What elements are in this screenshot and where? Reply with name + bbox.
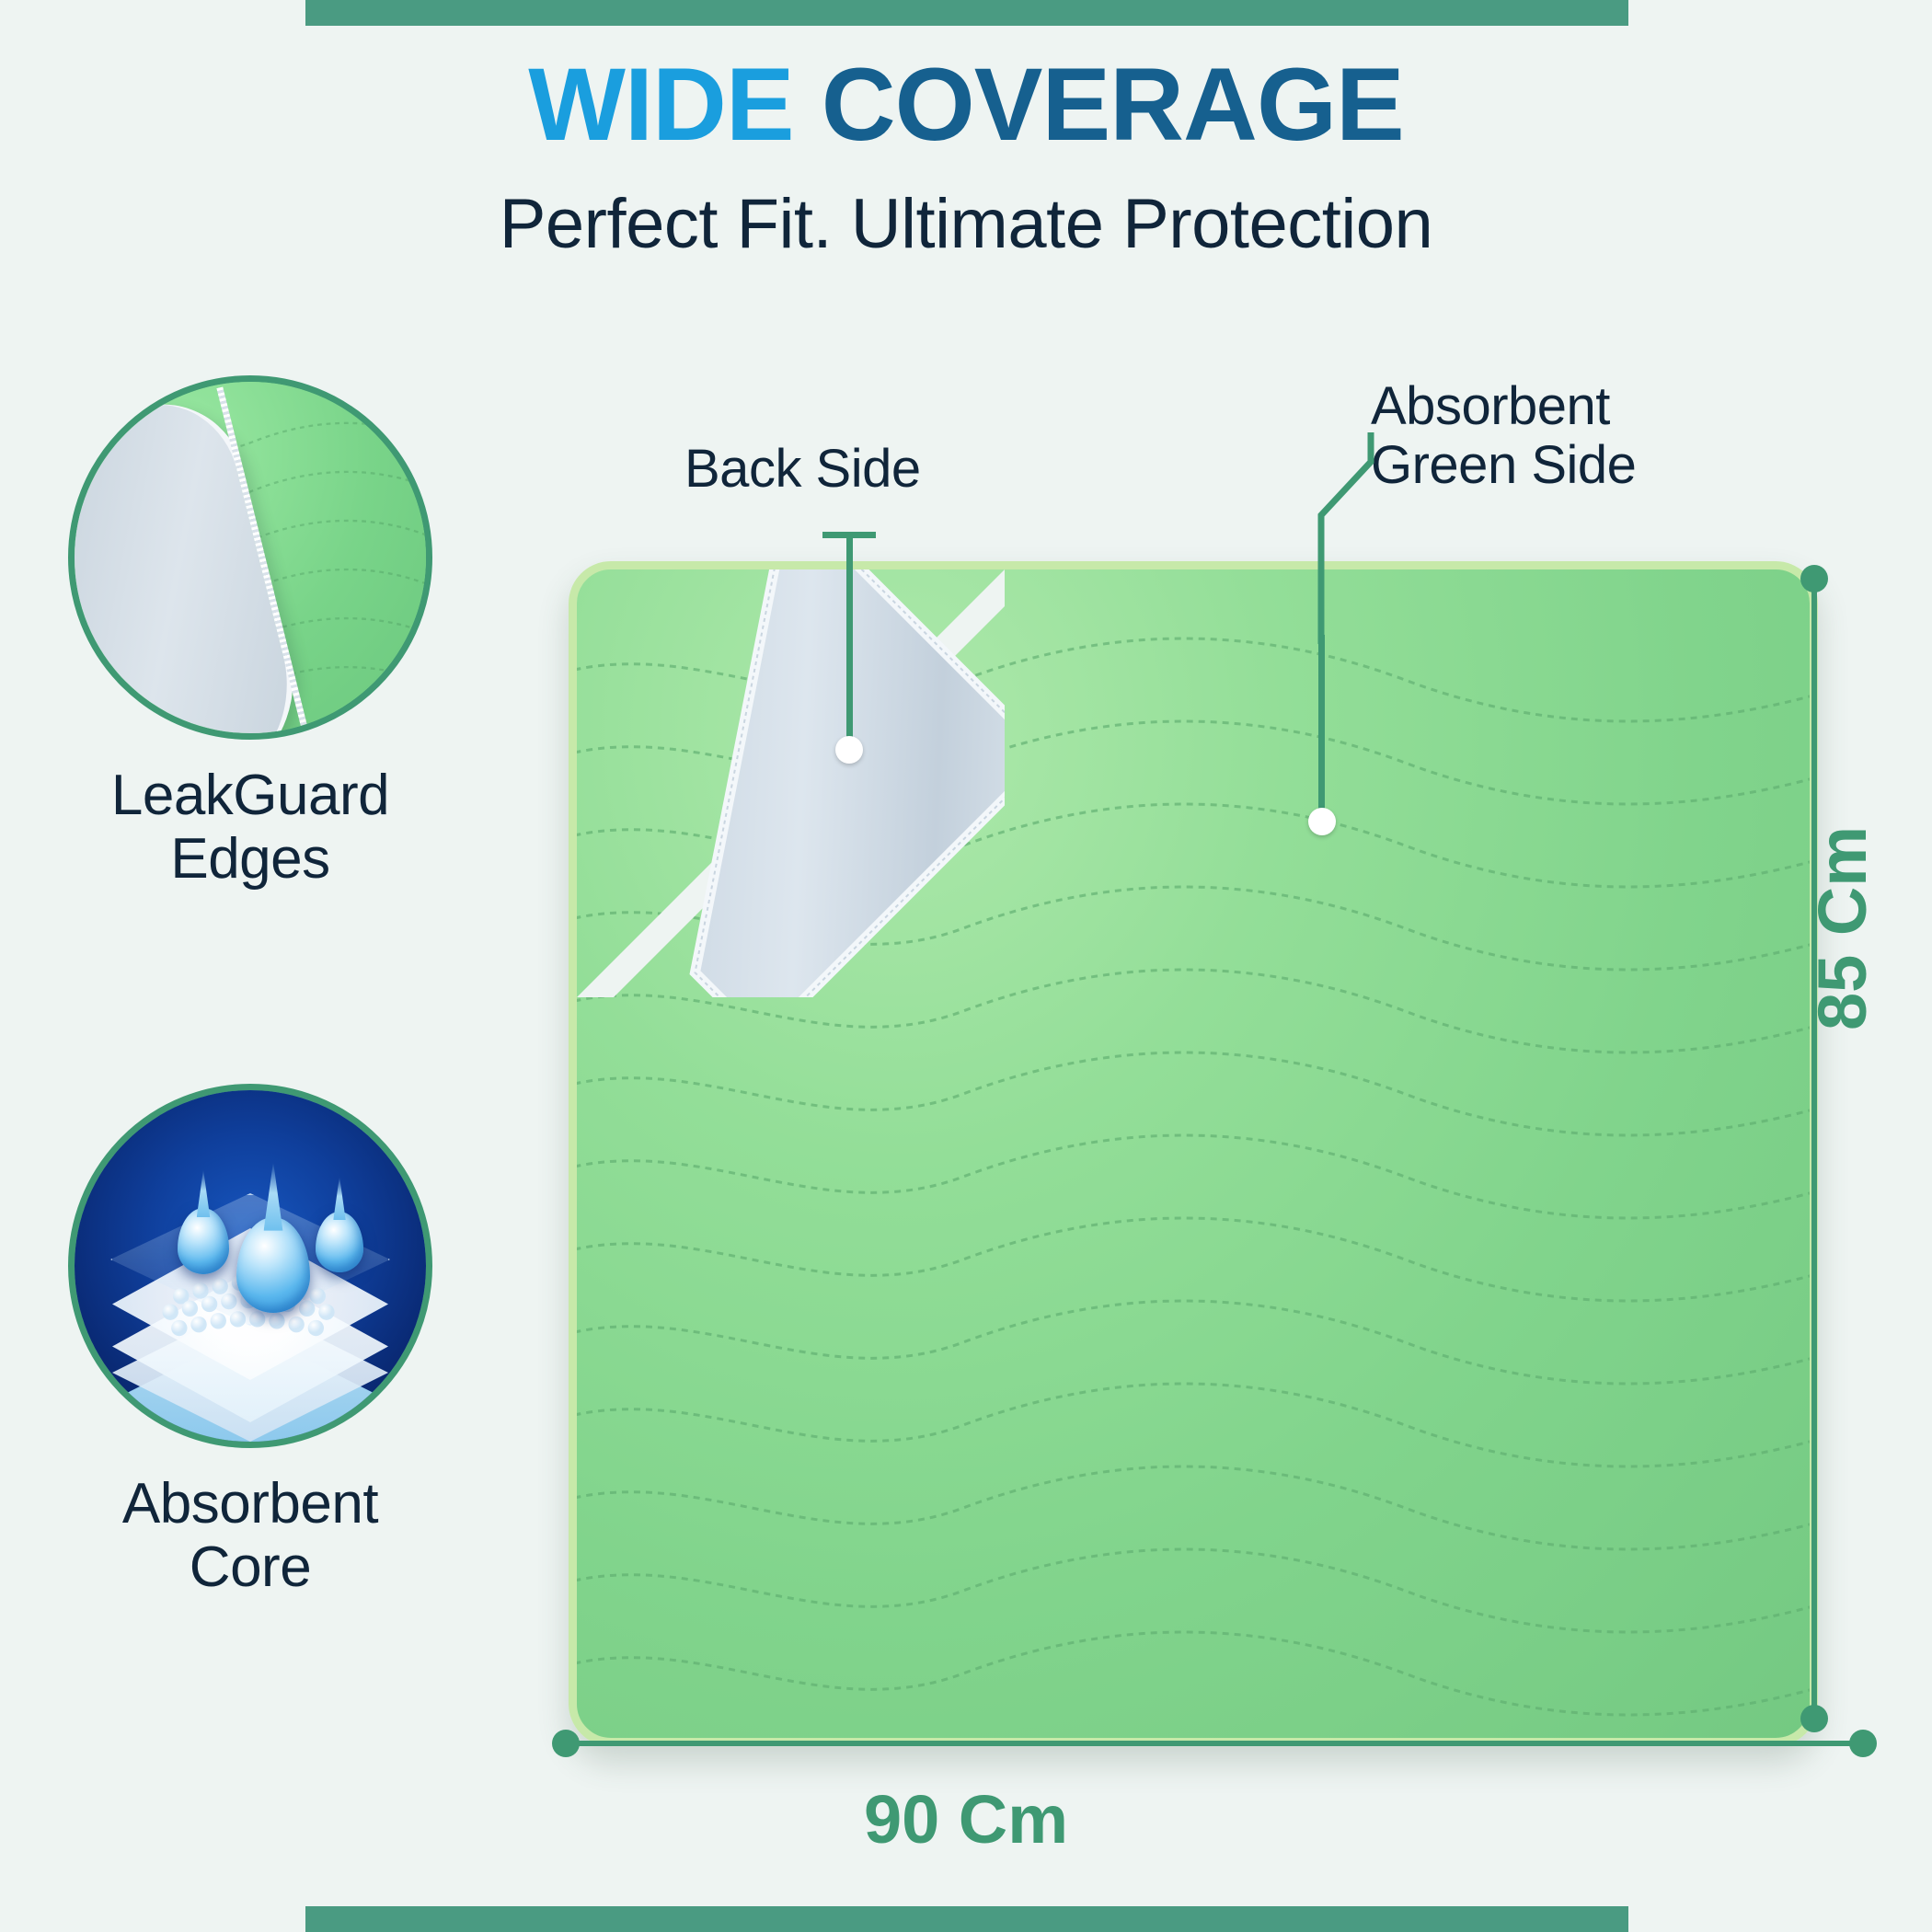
- page-subtitle: Perfect Fit. Ultimate Protection: [0, 184, 1932, 264]
- feature-absorbent-core-label-line1: Absorbent: [57, 1472, 443, 1535]
- feature-absorbent-core-label: Absorbent Core: [57, 1472, 443, 1600]
- dim-width-label: 90 Cm: [0, 1780, 1932, 1858]
- page-title: WIDE COVERAGE: [0, 53, 1932, 156]
- feature-leakguard-label-line2: Edges: [57, 827, 443, 891]
- infographic-page: WIDE COVERAGE Perfect Fit. Ultimate Prot…: [0, 0, 1932, 1932]
- feature-absorbent-core-label-line2: Core: [57, 1535, 443, 1599]
- bed-pad-green-side: [569, 561, 1818, 1746]
- callout-green-side-marker-dot: [1308, 808, 1336, 835]
- callout-back-side-label: Back Side: [684, 440, 921, 499]
- top-accent-bar: [305, 0, 1628, 26]
- feature-leakguard-edges: LeakGuard Edges: [57, 375, 443, 891]
- callout-back-side-marker-dot: [835, 736, 863, 764]
- feature-leakguard-label: LeakGuard Edges: [57, 764, 443, 891]
- dim-width-line: [566, 1741, 1863, 1746]
- bottom-accent-bar: [305, 1906, 1628, 1932]
- feature-leakguard-label-line1: LeakGuard: [57, 764, 443, 827]
- folded-back-side-corner: [577, 569, 1005, 997]
- callout-back-side-line: [846, 532, 853, 745]
- dim-height-line: [1811, 579, 1817, 1718]
- absorbent-core-icon: [68, 1084, 432, 1448]
- dim-height-dot-bottom: [1800, 1705, 1828, 1732]
- page-title-part1: WIDE: [528, 47, 793, 162]
- page-title-part2: COVERAGE: [822, 47, 1404, 162]
- callout-green-side-leader-line: [1316, 423, 1435, 662]
- product-image: [552, 534, 1840, 1730]
- callout-green-side-line-lower: [1318, 635, 1325, 817]
- leakguard-edges-icon: [68, 375, 432, 740]
- feature-absorbent-core: Absorbent Core: [57, 1084, 443, 1600]
- dim-height-label: 85 Cm: [1803, 826, 1881, 1030]
- dim-width-dot-right: [1849, 1730, 1877, 1757]
